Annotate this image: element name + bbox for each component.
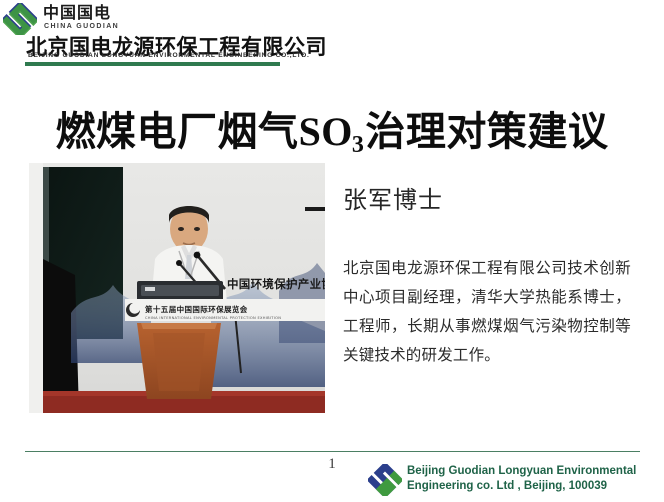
footer-guodian-diamond-logo-icon — [368, 464, 402, 496]
page-title-formula-subscript: 3 — [352, 132, 365, 158]
speaker-name: 张军博士 — [343, 180, 443, 215]
svg-text:第十五届中国国际环保展览会: 第十五届中国国际环保展览会 — [145, 304, 248, 314]
svg-text:CHINA INTERNATIONAL ENVIRONMEN: CHINA INTERNATIONAL ENVIRONMENTAL PROTEC… — [145, 316, 281, 320]
company-name-en: BEIJING GUODIAN LONGYUAN ENVIRONMENTAL E… — [28, 52, 310, 59]
speaker-bio: 北京国电龙源环保工程有限公司技术创新中心项目副经理，清华大学热能系博士，工程师，… — [343, 254, 631, 370]
page-number: 1 — [320, 456, 344, 473]
page-title-formula: SO — [299, 109, 353, 154]
brand-name-en: CHINA GUODIAN — [44, 23, 119, 30]
brand-name-cn: 中国国电 — [43, 5, 111, 22]
page-title: 燃煤电厂烟气SO3治理对策建议 — [0, 106, 664, 164]
footer-line-2: Engineering co. Ltd , Beijing, 100039 — [407, 479, 636, 494]
slide-root: 中国国电 CHINA GUODIAN 北京国电龙源环保工程有限公司 BEIJIN… — [0, 0, 664, 502]
page-title-part1: 燃煤电厂烟气 — [56, 110, 299, 154]
page-title-part2: 治理对策建议 — [365, 110, 608, 154]
speaker-photo: 第十五届中国国际环保展览会 CHINA INTERNATIONAL ENVIRO… — [29, 163, 325, 413]
footer-company-text: Beijing Guodian Longyuan Environmental E… — [407, 464, 636, 494]
footer-divider — [25, 451, 640, 452]
photo-backdrop-caption: 中国环境保护产业协会 — [227, 277, 325, 291]
footer-line-1: Beijing Guodian Longyuan Environmental — [407, 464, 636, 479]
header-divider — [25, 62, 280, 66]
slide-header: 中国国电 CHINA GUODIAN 北京国电龙源环保工程有限公司 BEIJIN… — [0, 0, 664, 70]
